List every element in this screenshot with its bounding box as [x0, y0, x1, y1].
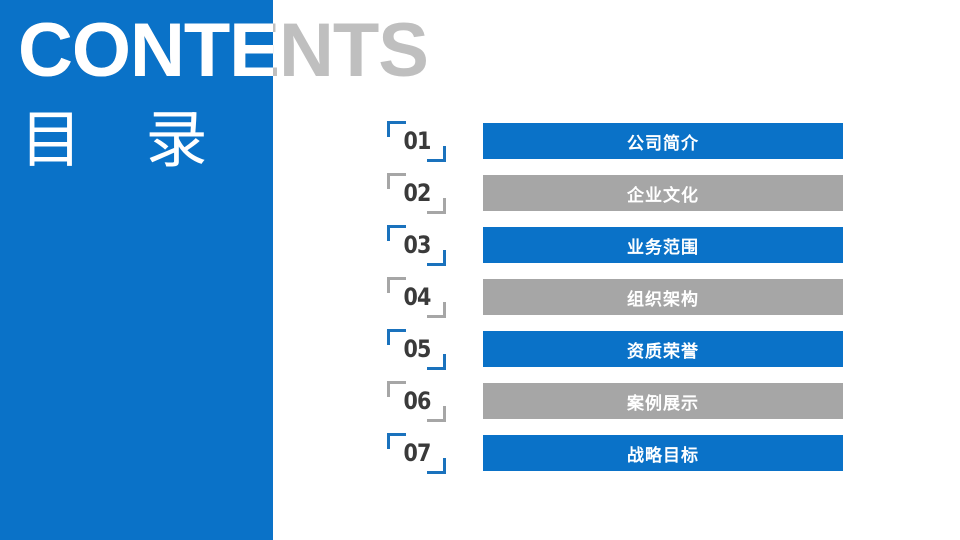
toc-number-box: 02 — [386, 170, 448, 216]
toc-number: 02 — [390, 170, 443, 216]
toc-bar-label: 案例展示 — [627, 389, 699, 414]
toc-bar-label: 战略目标 — [627, 441, 699, 466]
toc-bar-label: 资质荣誉 — [627, 337, 699, 362]
toc-bar-label: 业务范围 — [627, 233, 699, 258]
toc-row[interactable]: 04 组织架构 — [386, 274, 856, 326]
toc-number: 01 — [390, 118, 443, 164]
toc-row[interactable]: 01 公司简介 — [386, 118, 856, 170]
toc-bar[interactable]: 组织架构 — [483, 279, 843, 315]
toc-bar[interactable]: 企业文化 — [483, 175, 843, 211]
toc-bar-label: 公司简介 — [627, 129, 699, 154]
toc-bar[interactable]: 案例展示 — [483, 383, 843, 419]
toc-number: 04 — [390, 274, 443, 320]
toc-number-box: 05 — [386, 326, 448, 372]
heading-white-clip: CONTENTS — [0, 0, 273, 540]
toc-bar[interactable]: 业务范围 — [483, 227, 843, 263]
toc-number-box: 07 — [386, 430, 448, 476]
toc-bar[interactable]: 战略目标 — [483, 435, 843, 471]
toc-number: 05 — [390, 326, 443, 372]
toc-bar[interactable]: 公司简介 — [483, 123, 843, 159]
toc-bar-label: 企业文化 — [627, 181, 699, 206]
toc-number: 03 — [390, 222, 443, 268]
contents-slide: CONTENTS CONTENTS 目 录 01 公司简介 02 企业文 — [0, 0, 960, 540]
page-subtitle-cn: 目 录 — [20, 104, 232, 178]
toc-row[interactable]: 06 案例展示 — [386, 378, 856, 430]
toc-row[interactable]: 02 企业文化 — [386, 170, 856, 222]
page-title-white: CONTENTS — [18, 8, 273, 94]
toc-bar[interactable]: 资质荣誉 — [483, 331, 843, 367]
toc-row[interactable]: 03 业务范围 — [386, 222, 856, 274]
toc-number-box: 01 — [386, 118, 448, 164]
toc-number-box: 04 — [386, 274, 448, 320]
toc-row[interactable]: 05 资质荣誉 — [386, 326, 856, 378]
toc-list: 01 公司简介 02 企业文化 03 业务范围 — [386, 118, 856, 482]
toc-number: 07 — [390, 430, 443, 476]
toc-bar-label: 组织架构 — [627, 285, 699, 310]
toc-number: 06 — [390, 378, 443, 424]
toc-number-box: 06 — [386, 378, 448, 424]
toc-row[interactable]: 07 战略目标 — [386, 430, 856, 482]
toc-number-box: 03 — [386, 222, 448, 268]
